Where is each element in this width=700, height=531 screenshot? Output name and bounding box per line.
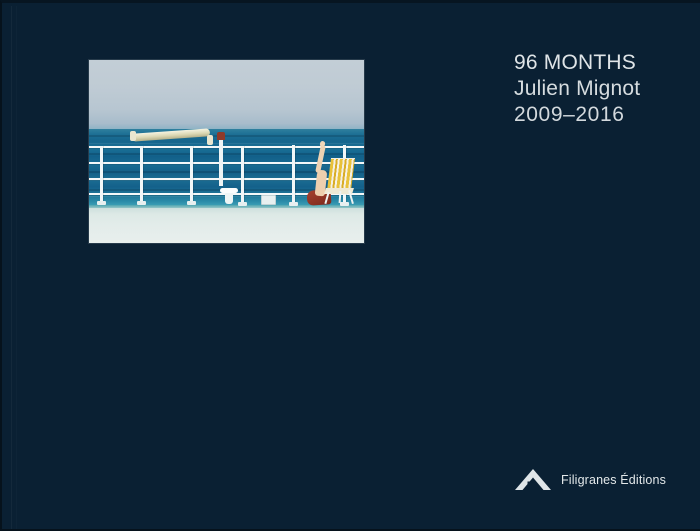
title-block: 96 MONTHS Julien Mignot 2009–2016 [514, 50, 640, 128]
publisher-name: Filigranes Éditions [561, 473, 666, 487]
photo-cylinder-cap-left [130, 131, 136, 141]
photo-step-box [261, 195, 276, 205]
book-cover: 96 MONTHS Julien Mignot 2009–2016 Filigr… [0, 0, 700, 531]
photo-cylinder-cap-right [207, 135, 213, 145]
book-title: 96 MONTHS [514, 50, 640, 76]
date-range: 2009–2016 [514, 102, 640, 128]
photo-deck-chair [323, 158, 357, 203]
chevron-mountain-icon [514, 465, 552, 495]
cover-photograph [89, 60, 364, 243]
author-name: Julien Mignot [514, 76, 640, 102]
photo-deck-bollard [220, 188, 238, 204]
publisher-block: Filigranes Éditions [514, 465, 666, 495]
photo-mast [219, 138, 223, 186]
spine-line-secondary [16, 6, 17, 531]
spine-line [11, 6, 12, 531]
photograph-canvas [89, 60, 364, 243]
photo-mast-red-cap [217, 132, 225, 140]
